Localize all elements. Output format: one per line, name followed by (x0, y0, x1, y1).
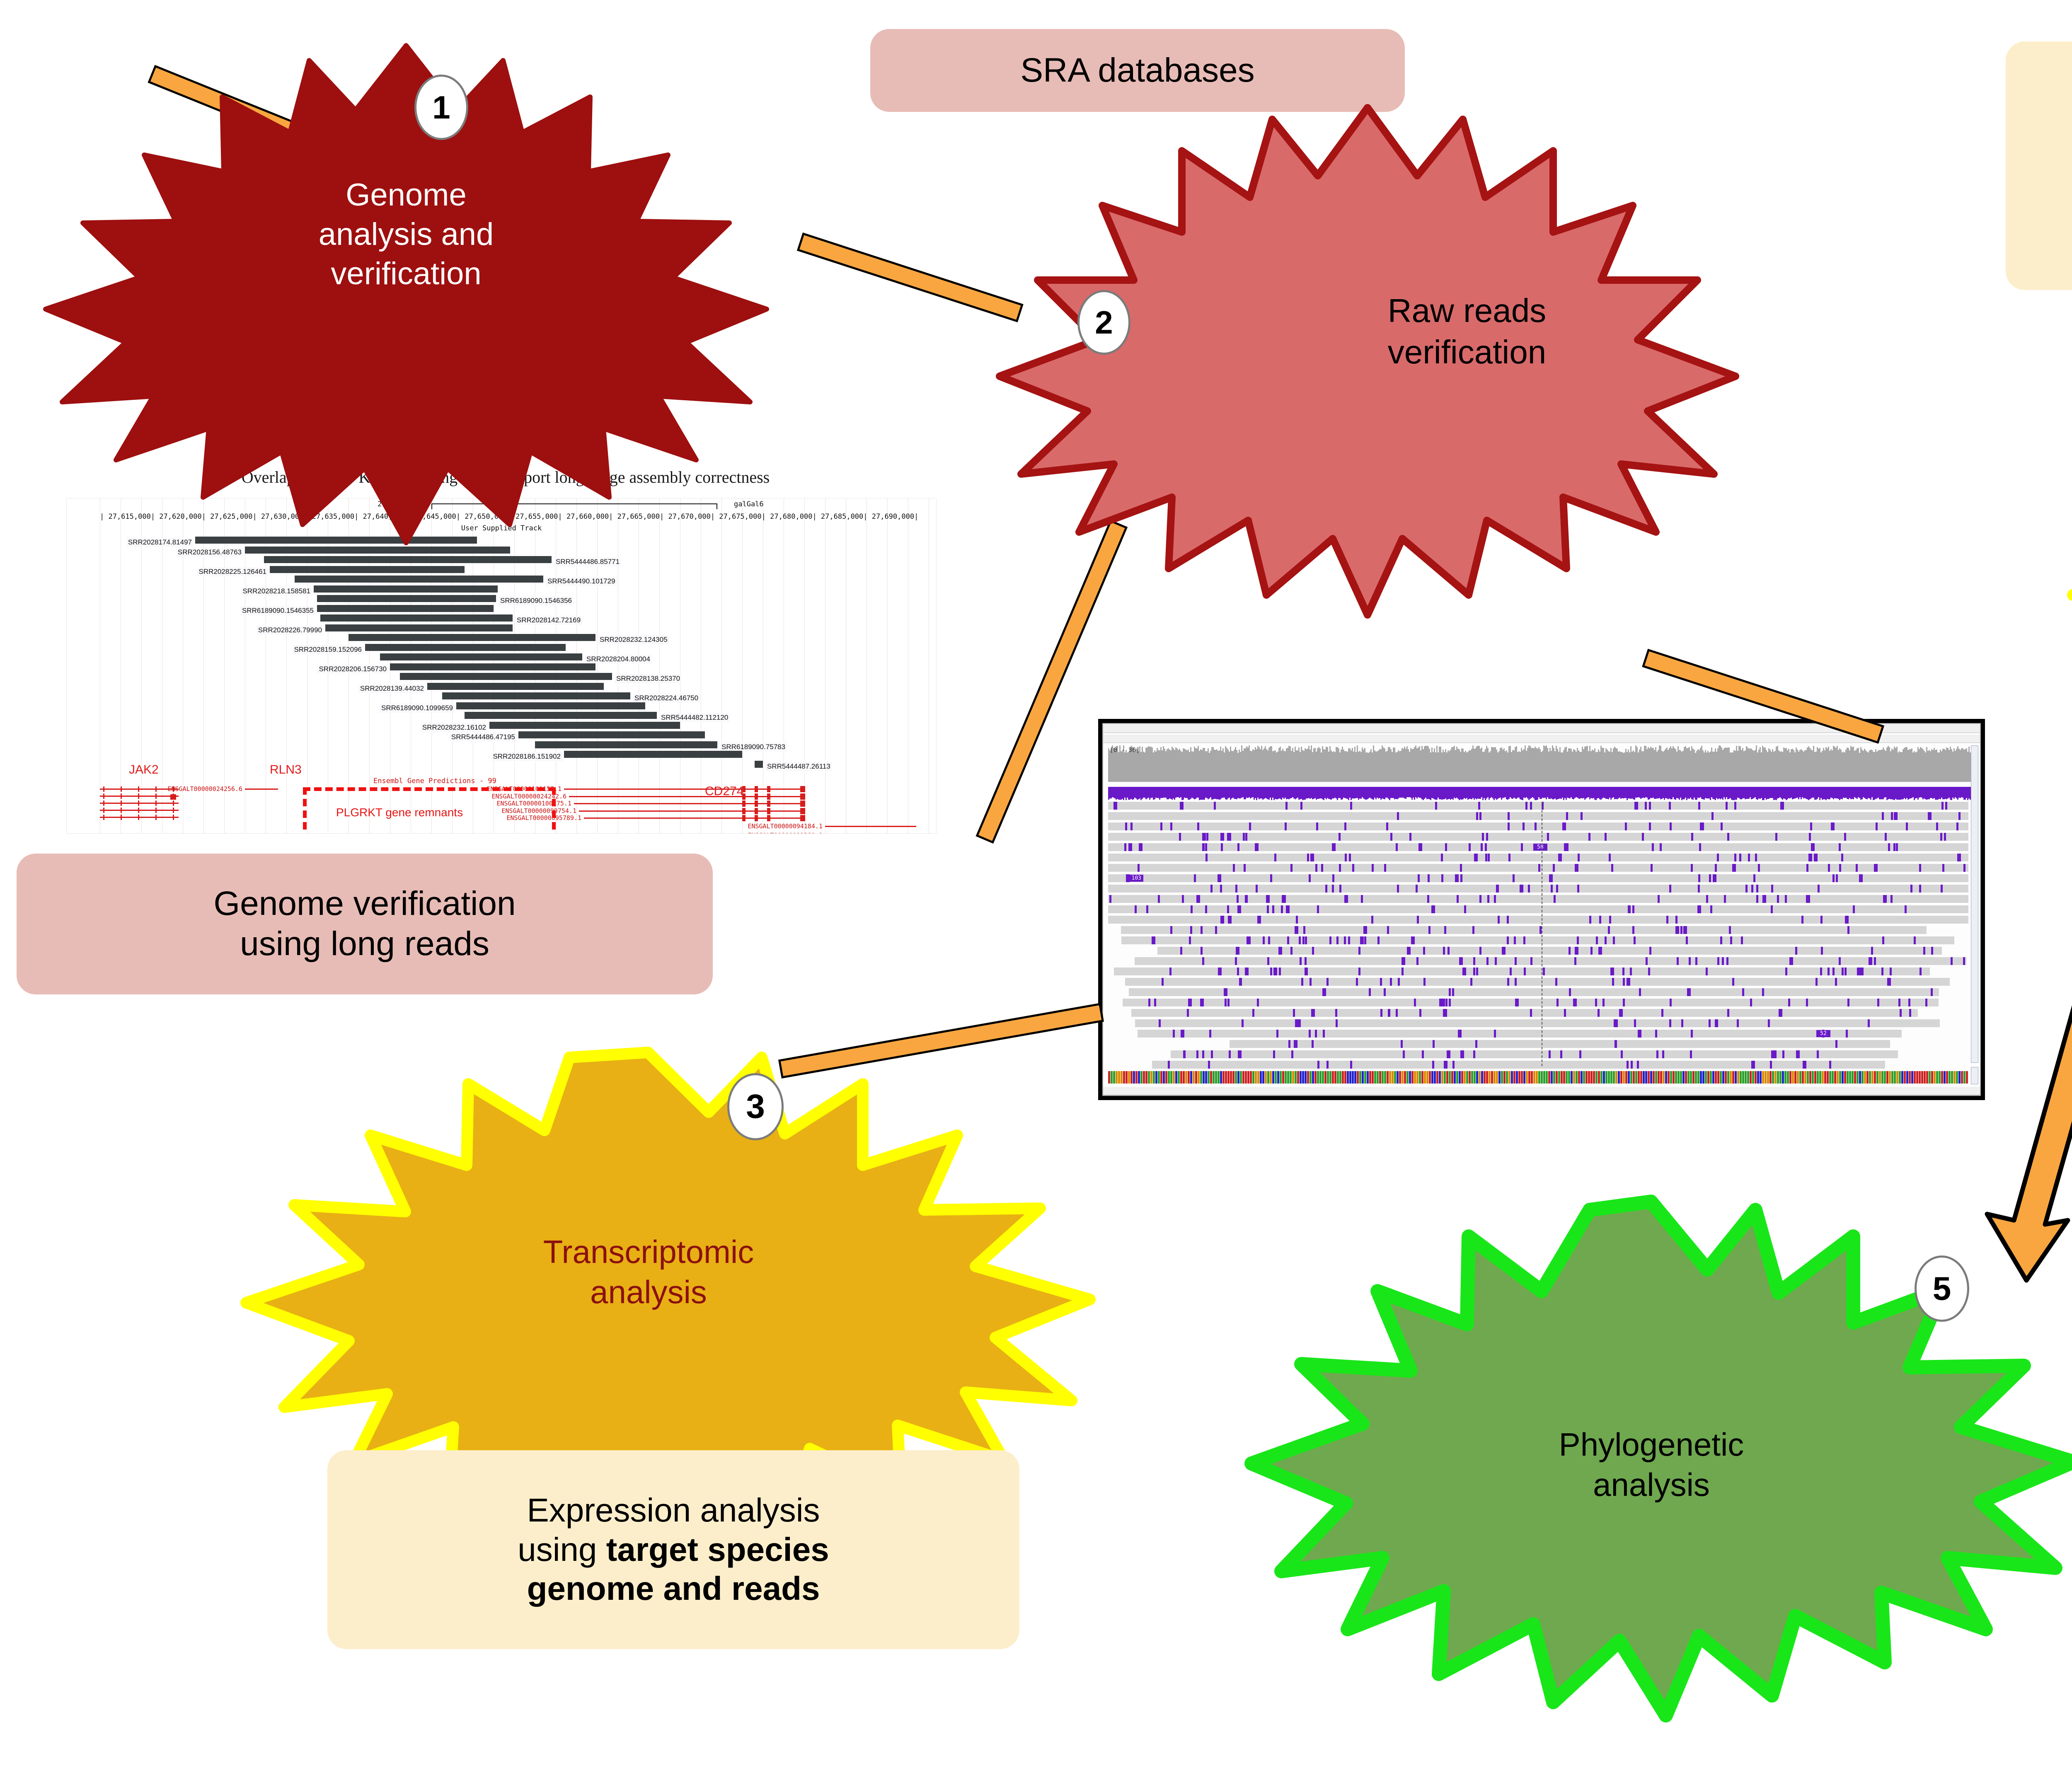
star-shape-2 (1000, 108, 1736, 615)
star-transcriptomic-3[interactable]: Transcriptomic analysis (137, 1052, 1160, 1492)
step-badge-5[interactable]: 5 (1915, 1255, 1969, 1322)
callout-expression-sister: Expression analysis using genome of sist… (2006, 41, 2072, 290)
igv-inner: [0 - 36]5810352 (1102, 723, 1981, 1096)
igv-alignment-panel: [0 - 36]5810352 (1098, 719, 1985, 1100)
step-badge-5-number: 5 (1933, 1270, 1951, 1308)
step-badge-1-number: 1 (432, 89, 450, 126)
callout-et-line-0: Expression analysis (527, 1491, 820, 1530)
callout-genome-verification: Genome verification using long reads (17, 854, 713, 994)
step-badge-1[interactable]: 1 (414, 75, 468, 140)
callout-et-line-2: genome and reads (527, 1569, 820, 1608)
callout-sra-databases: SRA databases (870, 29, 1405, 112)
star-transcriptomic-4[interactable]: Transcriptomic analysis (1993, 348, 2072, 762)
star-genome-analysis[interactable]: Genome analysis and verification (0, 46, 812, 389)
genome-browser-track-area: 20 kbgalGal6| 27,615,000| 27,620,000| 27… (66, 498, 937, 834)
callout-gv-line-0: Genome verification (213, 884, 516, 924)
step-badge-2[interactable]: 2 (1077, 290, 1130, 355)
callout-sra-text: SRA databases (1020, 51, 1254, 91)
step-badge-3-number: 3 (746, 1087, 765, 1126)
callout-et-line-1: using target species (518, 1530, 829, 1569)
callout-expression-target: Expression analysis using target species… (327, 1450, 1019, 1649)
step-badge-2-number: 2 (1095, 304, 1113, 341)
step-badge-3[interactable]: 3 (727, 1073, 784, 1140)
callout-gv-line-1: using long reads (240, 924, 489, 964)
